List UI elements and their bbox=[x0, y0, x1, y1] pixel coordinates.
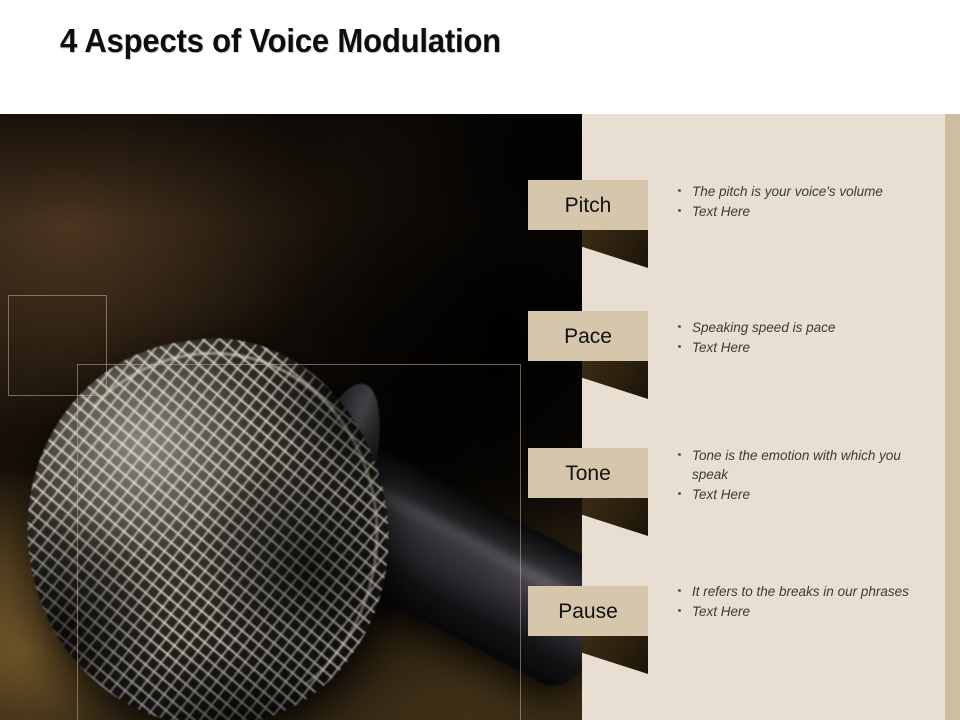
aspect-description-tone: Tone is the emotion with which you speak… bbox=[674, 446, 930, 505]
list-item: Text Here bbox=[674, 338, 930, 357]
microphone-photo bbox=[0, 114, 582, 720]
bullet-list: Tone is the emotion with which you speak… bbox=[674, 446, 930, 504]
aspect-label-pace[interactable]: Pace bbox=[528, 311, 648, 361]
bullet-text: Text Here bbox=[692, 487, 750, 502]
bullet-dot-icon bbox=[678, 345, 681, 348]
aspect-description-pause: It refers to the breaks in our phrases T… bbox=[674, 582, 930, 622]
bullet-text: Tone is the emotion with which you speak bbox=[692, 448, 901, 482]
aspect-label-tone[interactable]: Tone bbox=[528, 448, 648, 498]
label-text: Pace bbox=[564, 326, 612, 347]
page-title: 4 Aspects of Voice Modulation bbox=[60, 22, 501, 60]
bullet-dot-icon bbox=[678, 492, 681, 495]
bullet-dot-icon bbox=[678, 325, 681, 328]
aspect-description-pace: Speaking speed is pace Text Here bbox=[674, 318, 930, 358]
bullet-text: Text Here bbox=[692, 340, 750, 355]
list-item: Text Here bbox=[674, 485, 930, 504]
bullet-text: Text Here bbox=[692, 604, 750, 619]
aspect-label-pause[interactable]: Pause bbox=[528, 586, 648, 636]
list-item: Tone is the emotion with which you speak bbox=[674, 446, 930, 484]
bullet-text: Text Here bbox=[692, 204, 750, 219]
label-text: Tone bbox=[565, 463, 611, 484]
label-box[interactable]: Pause bbox=[528, 586, 648, 636]
bullet-list: It refers to the breaks in our phrases T… bbox=[674, 582, 930, 621]
bullet-text: The pitch is your voice's volume bbox=[692, 184, 883, 199]
panel-edge-strip bbox=[945, 114, 960, 720]
list-item: It refers to the breaks in our phrases bbox=[674, 582, 930, 601]
label-text: Pause bbox=[558, 601, 618, 622]
label-box[interactable]: Tone bbox=[528, 448, 648, 498]
bullet-text: It refers to the breaks in our phrases bbox=[692, 584, 909, 599]
list-item: Speaking speed is pace bbox=[674, 318, 930, 337]
bullet-dot-icon bbox=[678, 453, 681, 456]
bullet-dot-icon bbox=[678, 189, 681, 192]
list-item: The pitch is your voice's volume bbox=[674, 182, 930, 201]
bullet-dot-icon bbox=[678, 609, 681, 612]
bullet-text: Speaking speed is pace bbox=[692, 320, 835, 335]
label-box[interactable]: Pitch bbox=[528, 180, 648, 230]
label-text: Pitch bbox=[565, 195, 612, 216]
slide-canvas: 4 Aspects of Voice Modulation Pitch bbox=[0, 0, 960, 720]
title-band: 4 Aspects of Voice Modulation bbox=[0, 0, 960, 114]
label-box[interactable]: Pace bbox=[528, 311, 648, 361]
bullet-dot-icon bbox=[678, 589, 681, 592]
photo-vignette-layer bbox=[0, 114, 582, 720]
aspect-label-pitch[interactable]: Pitch bbox=[528, 180, 648, 230]
bullet-list: The pitch is your voice's volume Text He… bbox=[674, 182, 930, 221]
bullet-list: Speaking speed is pace Text Here bbox=[674, 318, 930, 357]
bullet-dot-icon bbox=[678, 209, 681, 212]
list-item: Text Here bbox=[674, 202, 930, 221]
list-item: Text Here bbox=[674, 602, 930, 621]
aspect-description-pitch: The pitch is your voice's volume Text He… bbox=[674, 182, 930, 222]
